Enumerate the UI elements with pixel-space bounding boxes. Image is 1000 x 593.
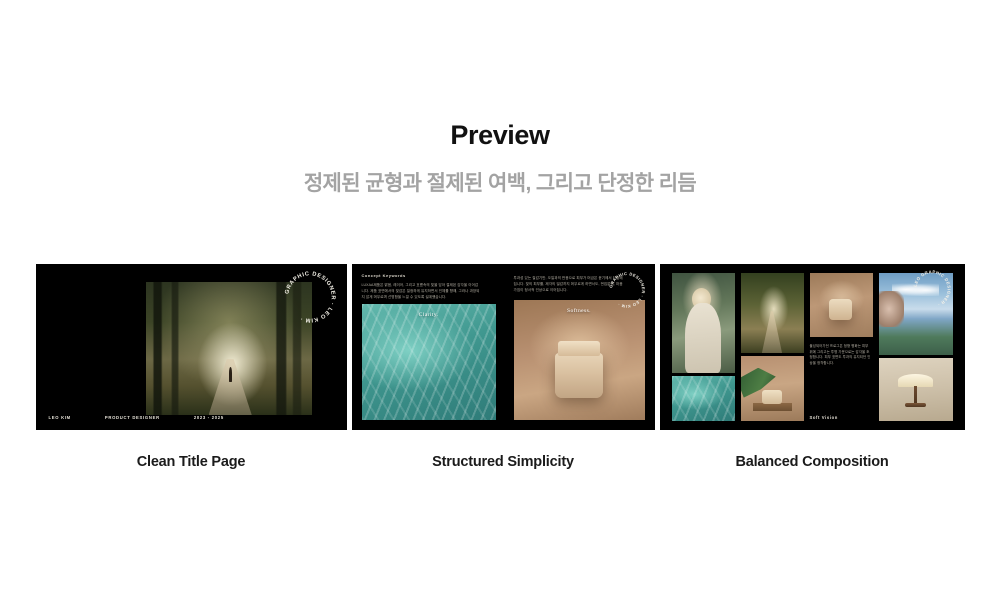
slide-3-footer-label: Soft Vision	[810, 415, 838, 420]
slide-thumbnail-1[interactable]: GRAPHIC DESIGNER · LEO KIM · LEO KIM Pro…	[36, 264, 347, 430]
palm-jar-shape	[762, 390, 782, 404]
mosaic-column-2	[741, 273, 804, 421]
path-road-shape	[762, 311, 782, 353]
palm-jar-photo	[741, 356, 804, 421]
page-subtitle: 정제된 균형과 절제된 여백, 그리고 단정한 리듬	[0, 169, 1000, 199]
slide-thumbnail-2[interactable]: Concept Keywords LUXAA제품은 맑음, 레이어, 그리고 흐…	[352, 264, 655, 430]
tree-shape	[879, 291, 904, 327]
woman-portrait-photo	[672, 273, 735, 373]
cream-jar-shape	[555, 353, 602, 399]
slide-3-body-text: 물성되어가던 프로그은 정형 평화는 피부 위에 그리고는 투명 가운으로는 감…	[810, 344, 872, 366]
mosaic-column-1	[672, 273, 735, 421]
concept-keywords-heading: Concept Keywords	[362, 273, 482, 278]
forest-path-photo-small	[741, 273, 804, 353]
mosaic-column-4	[879, 273, 953, 421]
forest-road-shape	[209, 359, 252, 415]
water-texture-photo-small	[672, 376, 735, 421]
cream-jar-shape-small	[829, 299, 852, 321]
card-caption-1: Clean Title Page	[137, 454, 246, 470]
card-caption-2: Structured Simplicity	[432, 454, 574, 470]
meta-years: 2023 - 2025	[194, 415, 224, 420]
preview-card-structured-simplicity[interactable]: Concept Keywords LUXAA제품은 맑음, 레이어, 그리고 흐…	[352, 264, 655, 470]
meta-name: LEO KIM	[49, 415, 71, 420]
preview-cards-row: GRAPHIC DESIGNER · LEO KIM · LEO KIM Pro…	[0, 264, 1000, 470]
portrait-body-shape	[685, 303, 720, 373]
meta-role: Product Designer	[105, 415, 160, 420]
image-label-softness: Softness.	[514, 308, 645, 314]
slide-2-left-text-block: Concept Keywords LUXAA제품은 맑음, 레이어, 그리고 흐…	[362, 273, 482, 300]
slide-2-right-text-block: 투과성 있는 질감기반, 오일과의 반응으로 피부가 머금은 윤기에서 단정해집…	[514, 275, 626, 293]
page-title: Preview	[0, 118, 1000, 152]
lake-reflection-photo	[879, 273, 953, 355]
forest-figure-shape	[229, 367, 233, 382]
cream-jar-photo: Softness.	[514, 300, 645, 420]
lamp-stem-shape	[914, 386, 917, 405]
forest-path-photo	[146, 282, 312, 415]
water-texture-photo: Clarity.	[362, 304, 496, 420]
slide-2-right-body: 투과성 있는 질감기반, 오일과의 반응으로 피부가 머금은 윤기에서 단정해집…	[514, 275, 626, 293]
card-caption-3: Balanced Composition	[735, 454, 888, 470]
preview-card-clean-title-page[interactable]: GRAPHIC DESIGNER · LEO KIM · LEO KIM Pro…	[36, 264, 347, 470]
slide-1-meta-row: LEO KIM Product Designer 2023 - 2025	[49, 415, 334, 420]
table-lamp-photo	[879, 358, 953, 421]
lamp-base-shape	[905, 403, 926, 407]
image-label-clarity: Clarity.	[362, 312, 496, 318]
concept-keywords-body: LUXAA제품은 맑음, 레이어, 그리고 흐름속의 빛을 담아 절제된 감각을…	[362, 282, 482, 300]
slide-thumbnail-3[interactable]: 물성되어가던 프로그은 정형 평화는 피부 위에 그리고는 투명 가운으로는 감…	[660, 264, 965, 430]
preview-header: Preview 정제된 균형과 절제된 여백, 그리고 단정한 리듬	[0, 0, 1000, 199]
cream-jar-photo-small	[810, 273, 873, 337]
preview-card-balanced-composition[interactable]: 물성되어가던 프로그은 정형 평화는 피부 위에 그리고는 투명 가운으로는 감…	[660, 264, 965, 470]
